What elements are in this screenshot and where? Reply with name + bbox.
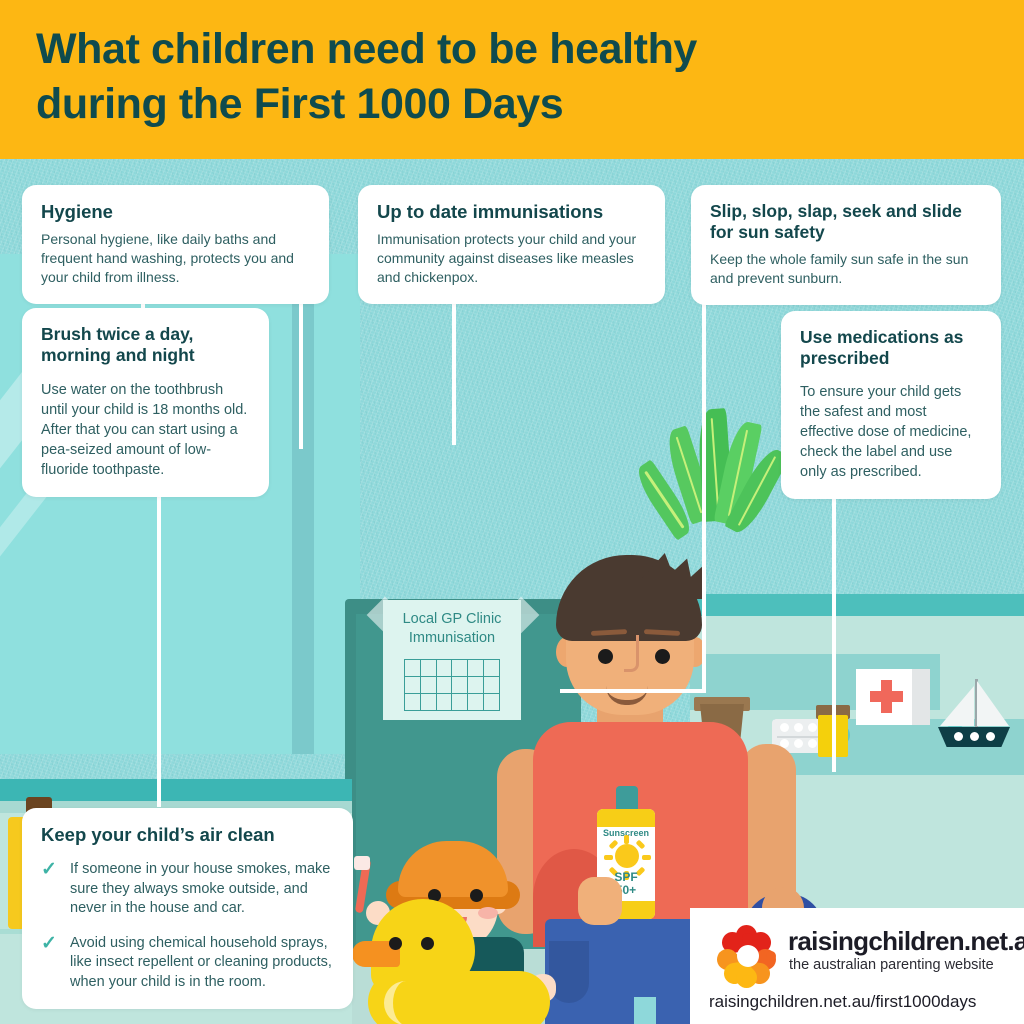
man-nose	[624, 635, 639, 672]
pill-2	[794, 723, 803, 732]
card-air-bullet-2: Avoid using chemical household sprays, l…	[70, 934, 334, 993]
card-air-clean-title: Keep your child’s air clean	[41, 824, 334, 846]
card-sun-safety-body: Keep the whole family sun safe in the su…	[710, 250, 982, 288]
man-eye-right	[655, 649, 670, 664]
pill-3	[808, 723, 817, 732]
page-title: What children need to be healthy during …	[36, 22, 697, 132]
pill-7	[808, 739, 817, 748]
card-brush-teeth-title: Brush twice a day, morning and night	[41, 324, 250, 366]
child-toothbrush-bristles	[354, 856, 370, 870]
list-item: ✓ Avoid using chemical household sprays,…	[41, 934, 334, 993]
child-eye-right	[470, 889, 483, 902]
boat-porthole-1	[954, 732, 963, 741]
card-hygiene[interactable]: Hygiene Personal hygiene, like daily bat…	[22, 185, 329, 304]
boat-porthole-3	[986, 732, 995, 741]
card-hygiene-body: Personal hygiene, like daily baths and f…	[41, 230, 310, 287]
first-aid-kit-side	[912, 669, 930, 725]
card-brush-teeth[interactable]: Brush twice a day, morning and night Use…	[22, 308, 269, 497]
page-title-line2: during the First 1000 Days	[36, 80, 563, 128]
immunisation-calendar-icon	[404, 659, 500, 707]
header-banner: What children need to be healthy during …	[0, 0, 1024, 159]
footer-url[interactable]: raisingchildren.net.au/first1000days	[709, 992, 976, 1012]
pill-1	[780, 723, 789, 732]
duck-eye-2	[421, 937, 434, 950]
boat-porthole-2	[970, 732, 979, 741]
connector-meds-v	[832, 462, 836, 772]
man-shorts-split	[634, 997, 656, 1024]
poster-line-2: Immunisation	[383, 629, 521, 648]
infographic-root: What children need to be healthy during …	[0, 0, 1024, 1024]
card-hygiene-title: Hygiene	[41, 201, 310, 223]
sun-icon	[615, 844, 639, 868]
connector-sun-h	[560, 689, 706, 693]
sunscreen-band-top	[597, 809, 655, 827]
connector-brush-v	[157, 471, 161, 807]
child-cheek-right	[478, 907, 498, 919]
card-air-bullet-1: If someone in your house smokes, make su…	[70, 860, 334, 919]
card-immunisation[interactable]: Up to date immunisations Immunisation pr…	[358, 185, 665, 304]
duck-float-shine	[384, 981, 419, 1024]
page-title-line1: What children need to be healthy	[36, 25, 697, 73]
check-icon: ✓	[41, 860, 59, 919]
footer-logo-card: raisingchildren.net.au the australian pa…	[690, 908, 1024, 1024]
card-air-clean[interactable]: Keep your child’s air clean ✓ If someone…	[22, 808, 353, 1009]
brand-wordmark: raisingchildren.net.au	[788, 926, 1024, 957]
card-immunisation-body: Immunisation protects your child and you…	[377, 230, 646, 287]
card-sun-safety-title: Slip, slop, slap, seek and slide for sun…	[710, 201, 982, 243]
brand-name: raisingchildren	[788, 926, 964, 956]
mirror-frame	[292, 254, 314, 754]
first-aid-cross-icon-h	[870, 691, 903, 702]
man-hand-left	[578, 877, 622, 925]
card-medications-body: To ensure your child gets the safest and…	[800, 382, 982, 482]
list-item: ✓ If someone in your house smokes, make …	[41, 860, 334, 919]
right-counter-top	[690, 594, 1024, 616]
pill-6	[794, 739, 803, 748]
sun-ray-1	[624, 835, 629, 844]
card-medications-title: Use medications as prescribed	[800, 327, 982, 369]
connector-sun-v	[702, 273, 706, 693]
card-immunisation-title: Up to date immunisations	[377, 201, 646, 223]
card-medications[interactable]: Use medications as prescribed To ensure …	[781, 311, 1001, 499]
card-brush-teeth-body: Use water on the toothbrush until your c…	[41, 380, 250, 480]
brand-net: net	[970, 926, 1007, 956]
brand-au: au	[1014, 926, 1024, 956]
card-sun-safety[interactable]: Slip, slop, slap, seek and slide for sun…	[691, 185, 1001, 305]
raisingchildren-logo-icon	[717, 925, 779, 987]
vanity-top	[0, 779, 352, 801]
duck-eye-1	[389, 937, 402, 950]
sun-ray-3	[604, 855, 613, 860]
check-icon: ✓	[41, 934, 59, 993]
brand-tagline: the australian parenting website	[789, 957, 994, 973]
man-eye-left	[598, 649, 613, 664]
sun-ray-4	[642, 855, 651, 860]
poster-text: Local GP Clinic Immunisation	[383, 610, 521, 648]
poster-line-1: Local GP Clinic	[383, 610, 521, 629]
